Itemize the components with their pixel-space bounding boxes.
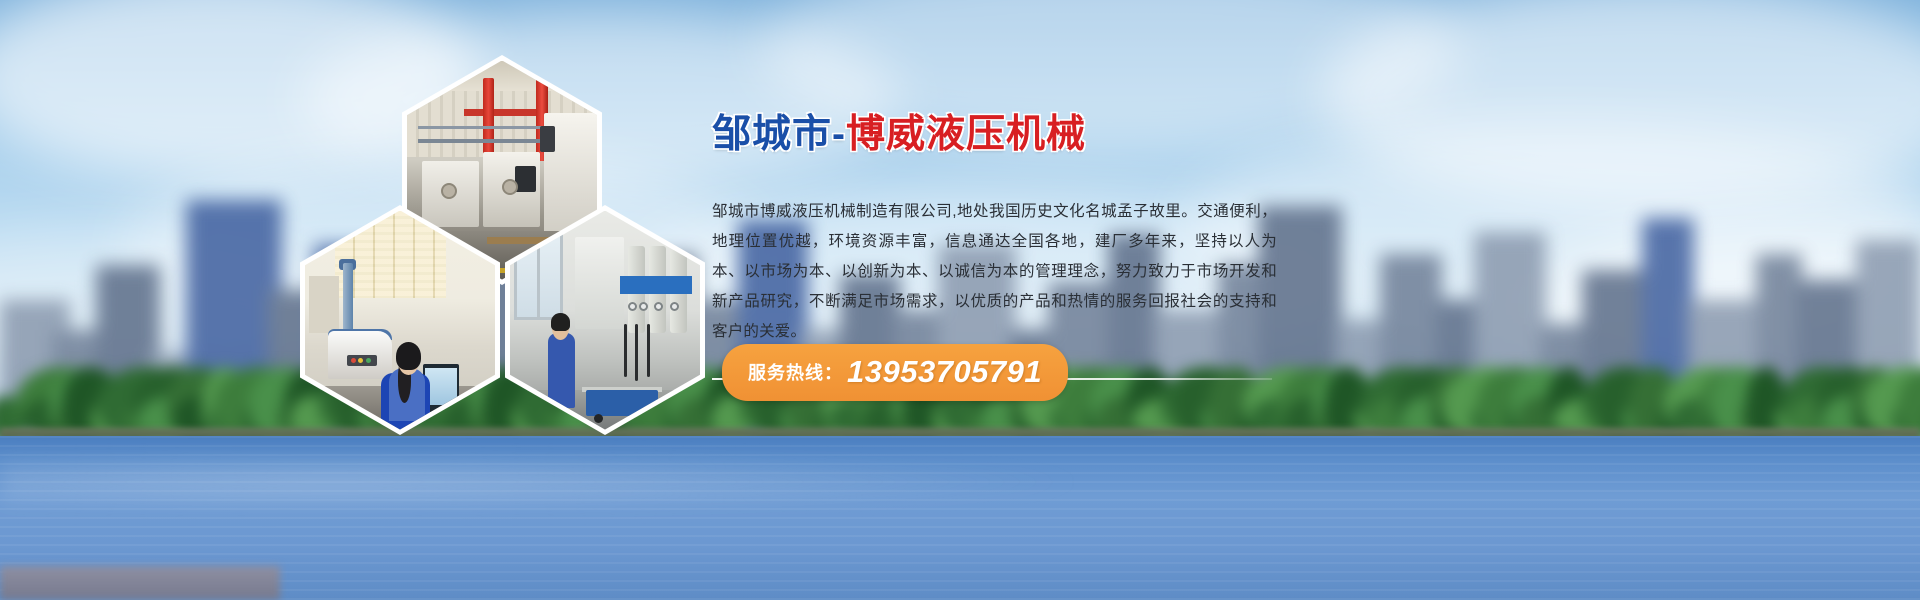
cart-wheel: [647, 414, 656, 423]
shop-roof: [407, 61, 597, 92]
control-panel: [515, 166, 536, 192]
hotline-label: 服务热线：: [748, 359, 843, 385]
water-reflection: [0, 452, 1100, 512]
blue-signage: [620, 276, 692, 294]
parts-cart: [586, 390, 658, 416]
control-panel: [540, 126, 555, 152]
laboratory-photo: [305, 211, 495, 430]
cart-wheel: [594, 414, 603, 423]
operator-hair: [396, 342, 421, 370]
hotline-number: 13953705791: [847, 354, 1042, 390]
company-description: 邹城市博威液压机械制造有限公司,地处我国历史文化名城孟子故里。交通便利，地理位置…: [712, 197, 1277, 347]
shop-rail: [418, 139, 559, 143]
lathe-chuck: [502, 179, 518, 195]
technician-body: [548, 333, 575, 407]
orange-cable: [347, 417, 381, 429]
company-title: 邹城市-博威液压机械: [712, 112, 1292, 159]
lab-cabinet: [309, 276, 339, 333]
test-bench-photo: [510, 211, 700, 430]
instrument-column: [343, 263, 353, 337]
photo-clip: [305, 211, 495, 430]
hydraulic-hose: [647, 324, 650, 377]
hydraulic-hose: [624, 324, 627, 377]
pressure-gauge: [639, 302, 648, 311]
hydraulic-hose: [635, 324, 638, 381]
company-title-city: 邹城市-: [712, 113, 846, 156]
shore-foreground: [0, 566, 280, 600]
photo-clip: [510, 211, 700, 430]
company-title-brand: 博威液压机械: [846, 113, 1086, 156]
gantry-beam: [464, 109, 544, 116]
equipment-rack: [575, 237, 624, 329]
desk-box: [442, 410, 480, 430]
technician-hair: [551, 313, 570, 331]
hotline-badge[interactable]: 服务热线： 13953705791: [722, 344, 1068, 401]
indicator-light: [351, 358, 356, 363]
hexagon-photo-cluster: [300, 55, 700, 435]
banner-text-panel: 邹城市-博威液压机械 邹城市博威液压机械制造有限公司,地处我国历史文化名城孟子故…: [712, 112, 1292, 347]
company-banner: 邹城市-博威液压机械 邹城市博威液压机械制造有限公司,地处我国历史文化名城孟子故…: [0, 0, 1920, 600]
shop-rail: [418, 126, 559, 129]
